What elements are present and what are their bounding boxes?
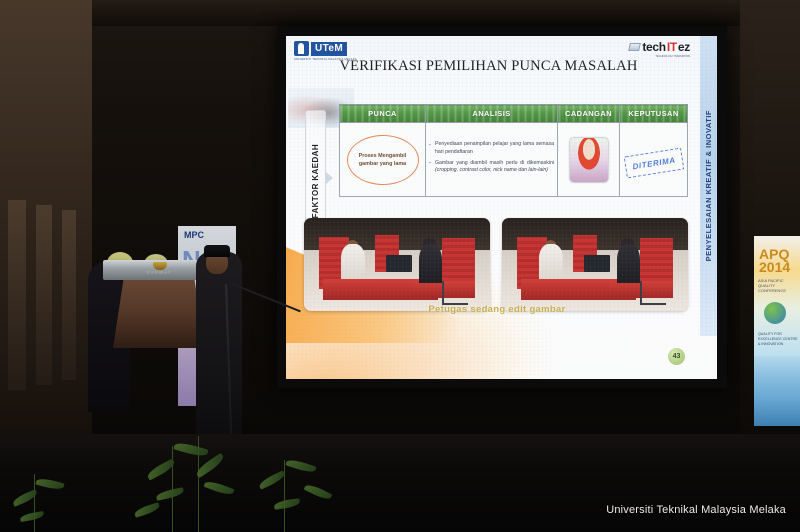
foreground-plant-far-left [0,452,110,532]
table-row: Proses Mengambil gambar yang lama Penyed… [340,123,688,197]
wall-panel-b [36,205,52,385]
techitez-logo: techITez TECHNOLOGY INNOVATION [629,41,690,53]
techitez-logo-text: techITez [642,41,690,53]
diterima-stamp: DITERIMA [623,147,684,178]
table-header-punca: PUNCA [340,105,426,123]
banner-right: APQ2014 ASIA PACIFIC QUALITY CONFERENCE … [754,236,800,426]
cell-keputusan: DITERIMA [620,123,688,197]
venue-watermark: Universiti Teknikal Malaysia Melaka [606,504,786,516]
cell-analisis: Penyediaan penampilan pelajar yang lama … [426,123,558,197]
slide-title: VERIFIKASI PEMILIHAN PUNCA MASALAH [286,58,691,75]
analisis-bullet-list: Penyediaan penampilan pelajar yang lama … [429,141,554,174]
utem-logo-text: UTeM [311,42,347,56]
podium-body [113,276,205,348]
photo-left [304,218,490,311]
table-header-keputusan: KEPUTUSAN [620,105,688,123]
table-header-cadangan: CADANGAN [558,105,620,123]
ceiling-beam [0,0,800,26]
book-icon [629,43,642,51]
cell-cadangan [558,123,620,197]
cadangan-photo-thumbnail [569,137,609,183]
table-header-row: PUNCA ANALISIS CADANGAN KEPUTUSAN [340,105,688,123]
presentation-slide: UTeM UNIVERSITI TEKNIKAL MALAYSIA MELAKA… [286,36,717,379]
banner-right-line4: QUALITY FOR EXCELLENCE CENTRE & INNOVATI… [758,332,800,347]
photo-right [502,218,688,311]
analisis-bullet-2-note: (cropping, contrast color, nick name dan… [435,167,548,173]
analisis-bullet-1: Penyediaan penampilan pelajar yang lama … [429,141,554,156]
banner-left-line1: MPC [184,230,204,240]
banner-right-skyline [754,356,800,426]
table-header-analisis: ANALISIS [426,105,558,123]
slide-number-badge: 43 [668,348,685,365]
banner-right-line1: APQ2014 [759,248,790,274]
analisis-bullet-2: Gambar yang diambil masih perlu di dikem… [429,160,554,175]
foreground-plant-right [244,440,374,532]
banner-right-line3: ASIA PACIFIC QUALITY CONFERENCE [758,278,800,293]
slide-side-strip: PENYELESAIAN KREATIF & INOVATIF [700,36,717,336]
callout-arrow-icon [326,172,333,184]
presenter-songkok [204,245,230,257]
wall-panel-a [8,200,26,390]
slide-side-strip-label: PENYELESAIAN KREATIF & INOVATIF [704,110,713,261]
globe-icon [764,302,786,324]
utem-logo: UTeM UNIVERSITI TEKNIKAL MALAYSIA MELAKA [294,41,347,56]
slide-photo-row [304,218,690,311]
wall-panel-c [62,210,76,380]
analisis-bullet-2-main: Gambar yang diambil masih perlu di dikem… [435,160,554,166]
utem-crest-icon [294,41,309,56]
cell-punca: Proses Mengambil gambar yang lama [340,123,426,197]
verification-table: PUNCA ANALISIS CADANGAN KEPUTUSAN Proses… [339,104,688,197]
photo-caption: Petugas sedang edit gambar [304,304,690,315]
faktor-kaedah-label: FAKTOR KAEDAH [311,144,320,218]
punca-oval-label: Proses Mengambil gambar yang lama [347,135,419,185]
